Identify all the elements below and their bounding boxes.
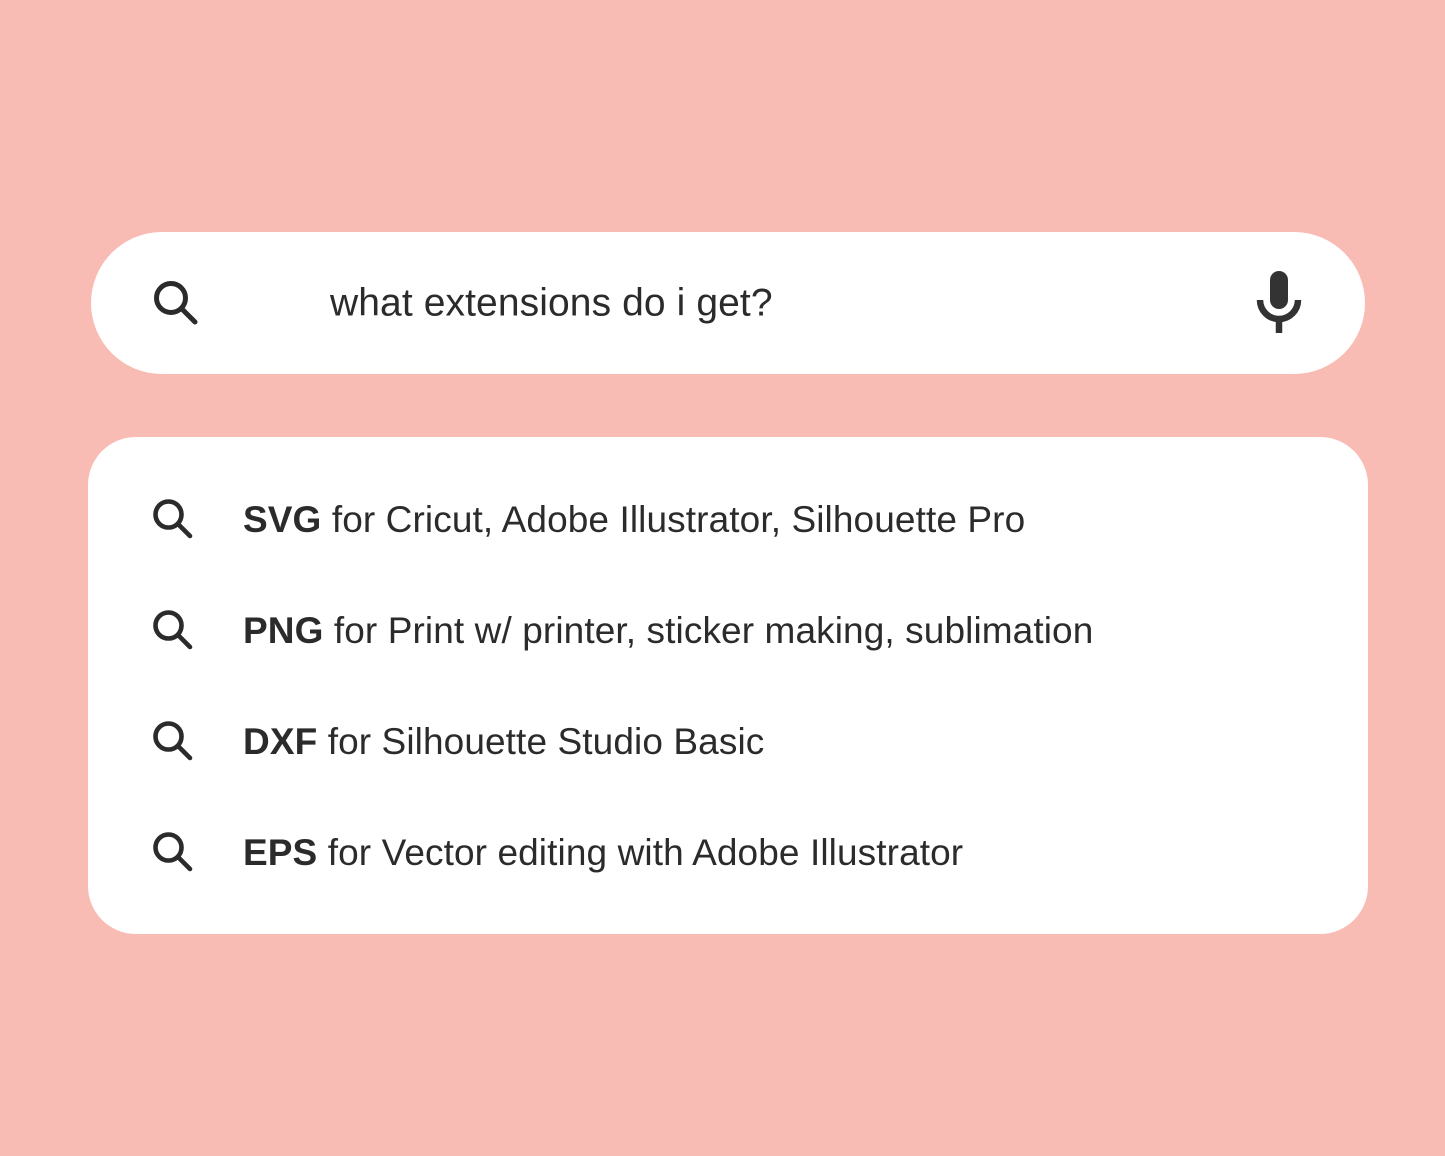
suggestion-row-svg[interactable]: SVG for Cricut, Adobe Illustrator, Silho…	[88, 484, 1368, 554]
suggestions-panel: SVG for Cricut, Adobe Illustrator, Silho…	[88, 437, 1368, 934]
suggestion-description: for Print w/ printer, sticker making, su…	[323, 610, 1093, 651]
suggestion-format: SVG	[243, 499, 321, 540]
page-canvas: what extensions do i get? SVG for Cricut…	[0, 0, 1445, 1156]
suggestion-format: DXF	[243, 721, 317, 762]
suggestion-row-png[interactable]: PNG for Print w/ printer, sticker making…	[88, 595, 1368, 665]
suggestion-row-dxf[interactable]: DXF for Silhouette Studio Basic	[88, 706, 1368, 776]
suggestion-description: for Cricut, Adobe Illustrator, Silhouett…	[321, 499, 1025, 540]
search-input[interactable]: what extensions do i get?	[330, 284, 773, 323]
search-bar[interactable]: what extensions do i get?	[91, 232, 1365, 374]
search-icon	[148, 827, 198, 877]
suggestion-row-eps[interactable]: EPS for Vector editing with Adobe Illust…	[88, 817, 1368, 887]
suggestion-text: PNG for Print w/ printer, sticker making…	[243, 612, 1093, 649]
suggestion-text: SVG for Cricut, Adobe Illustrator, Silho…	[243, 501, 1025, 538]
microphone-icon[interactable]	[1251, 268, 1307, 338]
suggestion-description: for Silhouette Studio Basic	[317, 721, 764, 762]
search-icon	[148, 494, 198, 544]
search-icon[interactable]	[148, 275, 204, 331]
suggestion-text: DXF for Silhouette Studio Basic	[243, 723, 764, 760]
suggestion-format: EPS	[243, 832, 317, 873]
search-icon	[148, 605, 198, 655]
suggestion-text: EPS for Vector editing with Adobe Illust…	[243, 834, 963, 871]
search-icon	[148, 716, 198, 766]
suggestion-description: for Vector editing with Adobe Illustrato…	[317, 832, 963, 873]
suggestion-format: PNG	[243, 610, 323, 651]
